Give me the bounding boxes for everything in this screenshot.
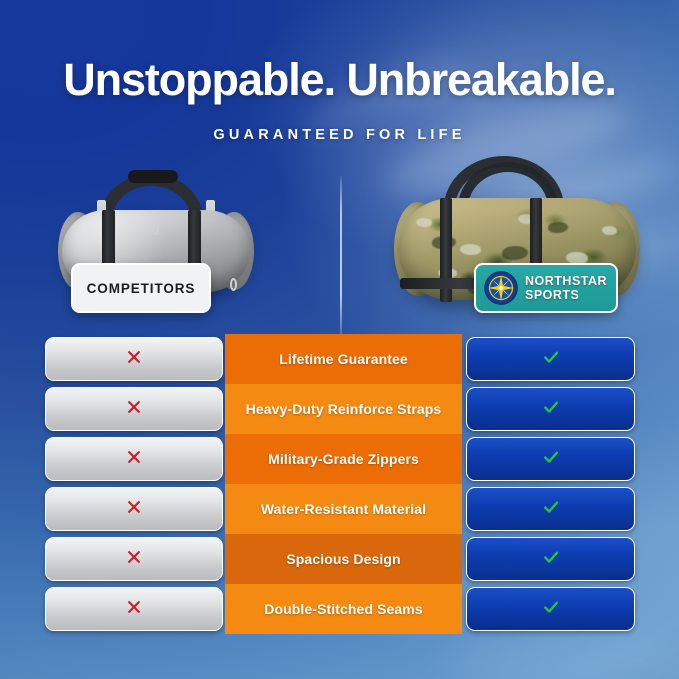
northstar-badge-label: NORTHSTAR SPORTS bbox=[525, 274, 607, 302]
competitor-cell bbox=[45, 537, 223, 581]
feature-text: Spacious Design bbox=[286, 551, 400, 567]
northstar-cell bbox=[466, 337, 635, 381]
northstar-brand-line2: SPORTS bbox=[525, 288, 579, 302]
northstar-badge: NORTHSTAR SPORTS bbox=[474, 263, 618, 313]
green-check-icon bbox=[542, 598, 560, 621]
red-x-icon bbox=[125, 448, 143, 471]
table-row: Military-Grade Zippers bbox=[0, 434, 679, 484]
page-subtitle: GUARANTEED FOR LIFE bbox=[0, 127, 679, 143]
northstar-brand-line1: NORTHSTAR bbox=[525, 274, 607, 288]
feature-label: Lifetime Guarantee bbox=[225, 334, 462, 384]
table-row: Double-Stitched Seams bbox=[0, 584, 679, 634]
feature-text: Heavy-Duty Reinforce Straps bbox=[246, 401, 442, 417]
red-x-icon bbox=[125, 498, 143, 521]
feature-label: Heavy-Duty Reinforce Straps bbox=[225, 384, 462, 434]
red-x-icon bbox=[125, 348, 143, 371]
competitor-badge: COMPETITORS bbox=[71, 263, 211, 313]
zipper-pull-icon bbox=[230, 278, 237, 291]
northstar-cell bbox=[466, 587, 635, 631]
red-x-icon bbox=[125, 398, 143, 421]
compass-star-icon bbox=[484, 271, 518, 305]
vertical-divider bbox=[340, 176, 342, 334]
red-x-icon bbox=[125, 598, 143, 621]
northstar-cell bbox=[466, 437, 635, 481]
northstar-cell bbox=[466, 387, 635, 431]
zipper-pull-icon bbox=[152, 222, 159, 235]
competitor-cell bbox=[45, 587, 223, 631]
infographic-canvas: Unstoppable. Unbreakable. GUARANTEED FOR… bbox=[0, 0, 679, 679]
feature-label: Double-Stitched Seams bbox=[225, 584, 462, 634]
feature-label: Spacious Design bbox=[225, 534, 462, 584]
northstar-cell bbox=[466, 537, 635, 581]
table-row: Heavy-Duty Reinforce Straps bbox=[0, 384, 679, 434]
table-row: Water-Resistant Material bbox=[0, 484, 679, 534]
competitor-cell bbox=[45, 337, 223, 381]
table-row: Spacious Design bbox=[0, 534, 679, 584]
competitor-cell bbox=[45, 487, 223, 531]
table-row: Lifetime Guarantee bbox=[0, 334, 679, 384]
feature-label: Military-Grade Zippers bbox=[225, 434, 462, 484]
bag-handle-grip bbox=[128, 170, 178, 183]
comparison-table: Lifetime GuaranteeHeavy-Duty Reinforce S… bbox=[0, 334, 679, 636]
feature-text: Water-Resistant Material bbox=[261, 501, 426, 517]
green-check-icon bbox=[542, 448, 560, 471]
feature-text: Military-Grade Zippers bbox=[268, 451, 419, 467]
competitor-cell bbox=[45, 387, 223, 431]
feature-text: Double-Stitched Seams bbox=[264, 601, 422, 617]
green-check-icon bbox=[542, 548, 560, 571]
competitor-badge-label: COMPETITORS bbox=[87, 281, 196, 296]
feature-text: Lifetime Guarantee bbox=[279, 351, 408, 367]
northstar-cell bbox=[466, 487, 635, 531]
green-check-icon bbox=[542, 348, 560, 371]
competitor-cell bbox=[45, 437, 223, 481]
green-check-icon bbox=[542, 498, 560, 521]
feature-label: Water-Resistant Material bbox=[225, 484, 462, 534]
green-check-icon bbox=[542, 398, 560, 421]
page-title: Unstoppable. Unbreakable. bbox=[0, 56, 679, 103]
red-x-icon bbox=[125, 548, 143, 571]
